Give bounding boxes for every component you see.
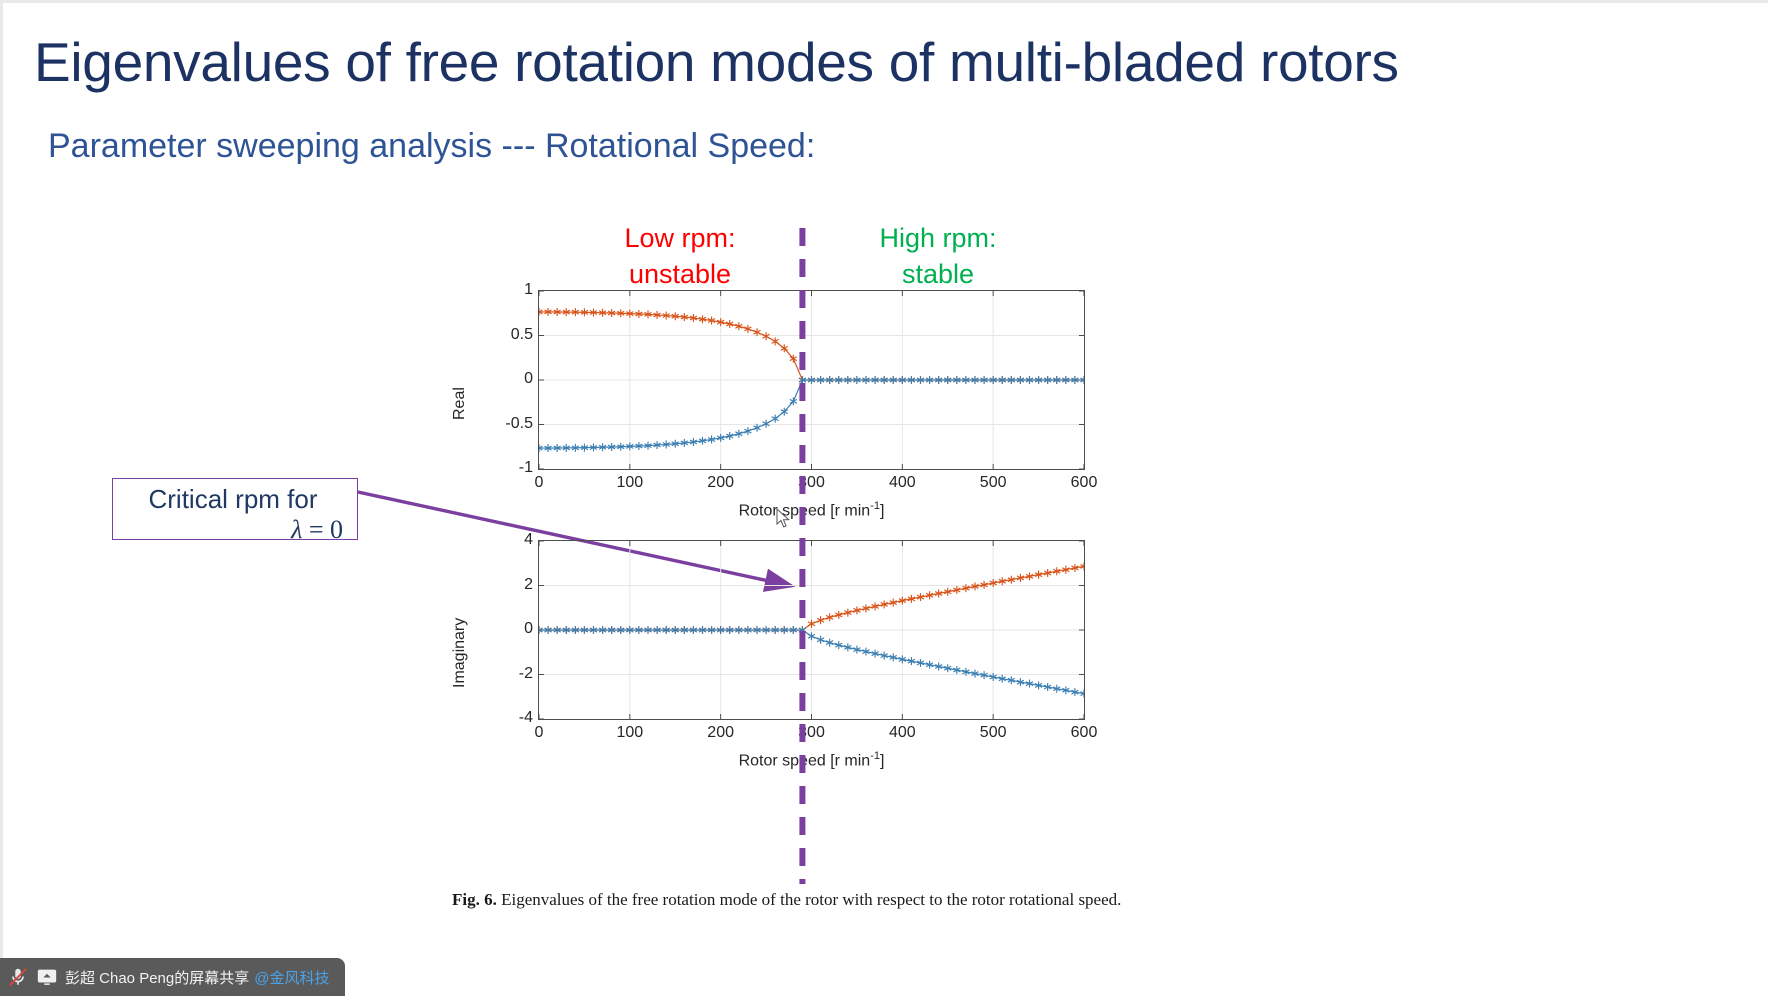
xtick-label: 100	[616, 724, 643, 742]
chart-imaginary-xlabel-sup: -1	[870, 750, 880, 762]
data-point	[817, 616, 824, 624]
ytick-label: -2	[519, 665, 533, 683]
xtick-label: 0	[535, 474, 544, 492]
callout-line1: Critical rpm for	[123, 485, 343, 514]
screen-share-taskbar[interactable]: 彭超 Chao Peng的屏幕共享 @金风科技	[0, 958, 345, 996]
data-point	[817, 636, 824, 644]
callout-equals: = 0	[302, 515, 343, 544]
chart-real-xlabel: Rotor speed [r min-1]	[538, 500, 1085, 520]
data-point	[744, 427, 751, 435]
chart-real-ylabel: Real	[451, 387, 469, 420]
data-point	[826, 613, 833, 621]
ytick-label: 1	[524, 281, 533, 299]
figure-eigenvalues: Real -1-0.500.51 0100200300400500600 Rot…	[455, 290, 1155, 890]
annotation-low-rpm: Low rpm: unstable	[600, 221, 760, 292]
chart-imaginary-xlabel: Rotor speed [r min-1]	[538, 750, 1085, 770]
chart-real-xlabel-tail: ]	[880, 502, 884, 519]
xtick-label: 200	[707, 474, 734, 492]
ytick-label: -4	[519, 709, 533, 727]
xtick-label: 100	[616, 474, 643, 492]
data-point	[763, 420, 770, 428]
critical-rpm-callout: Critical rpm for λ = 0	[112, 478, 358, 540]
ytick-label: 0	[524, 620, 533, 638]
xtick-label: 200	[707, 724, 734, 742]
figure-caption: Fig. 6. Eigenvalues of the free rotation…	[452, 888, 1142, 911]
figure-caption-text: Eigenvalues of the free rotation mode of…	[501, 890, 1121, 909]
annotation-high-rpm-line1: High rpm:	[858, 221, 1018, 257]
ytick-label: -1	[519, 459, 533, 477]
page-subtitle: Parameter sweeping analysis --- Rotation…	[48, 128, 815, 165]
xtick-label: 600	[1071, 474, 1098, 492]
ytick-label: 0.5	[511, 326, 533, 344]
data-point	[772, 415, 779, 423]
annotation-low-rpm-line2: unstable	[600, 257, 760, 293]
callout-formula: λ = 0	[123, 514, 343, 545]
ytick-label: 4	[524, 531, 533, 549]
lambda-symbol: λ	[291, 515, 302, 544]
chart-imaginary-canvas	[539, 541, 1084, 719]
ytick-label: 2	[524, 576, 533, 594]
screen-share-watermark-tag: @金风科技	[254, 967, 329, 988]
figure-caption-label: Fig. 6.	[452, 890, 497, 909]
page-title: Eigenvalues of free rotation modes of mu…	[34, 34, 1399, 92]
annotation-low-rpm-line1: Low rpm:	[600, 221, 760, 257]
data-point	[826, 639, 833, 647]
chart-imaginary-xlabel-base: Rotor speed [r min	[739, 752, 871, 769]
ytick-label: -0.5	[505, 415, 533, 433]
data-point	[744, 325, 751, 333]
xtick-label: 500	[980, 474, 1007, 492]
chart-imaginary-xtick-labels: 0100200300400500600	[538, 724, 1085, 744]
xtick-label: 0	[535, 724, 544, 742]
screen-share-owner-text: 彭超 Chao Peng的屏幕共享	[65, 967, 249, 988]
chart-imaginary-plot-area	[538, 540, 1085, 720]
data-point	[772, 337, 779, 345]
xtick-label: 300	[798, 724, 825, 742]
xtick-label: 500	[980, 724, 1007, 742]
xtick-label: 400	[889, 474, 916, 492]
xtick-label: 300	[798, 474, 825, 492]
chart-real-xlabel-sup: -1	[870, 500, 880, 512]
xtick-label: 400	[889, 724, 916, 742]
xtick-label: 600	[1071, 724, 1098, 742]
annotation-high-rpm-line2: stable	[858, 257, 1018, 293]
chart-real-xlabel-base: Rotor speed [r min	[739, 502, 871, 519]
data-point	[808, 620, 815, 628]
chart-imaginary-xlabel-tail: ]	[880, 752, 884, 769]
screen-share-icon[interactable]	[36, 966, 58, 988]
chart-real-canvas	[539, 291, 1084, 469]
annotation-high-rpm: High rpm: stable	[858, 221, 1018, 292]
data-point	[808, 632, 815, 640]
chart-real-plot-area	[538, 290, 1085, 470]
chart-real-xtick-labels: 0100200300400500600	[538, 474, 1085, 494]
ytick-label: 0	[524, 370, 533, 388]
slide-canvas: Eigenvalues of free rotation modes of mu…	[0, 0, 1768, 996]
chart-imaginary-ylabel: Imaginary	[451, 618, 469, 688]
mouse-cursor	[776, 508, 792, 530]
microphone-muted-icon[interactable]	[7, 966, 29, 988]
data-point	[763, 332, 770, 340]
